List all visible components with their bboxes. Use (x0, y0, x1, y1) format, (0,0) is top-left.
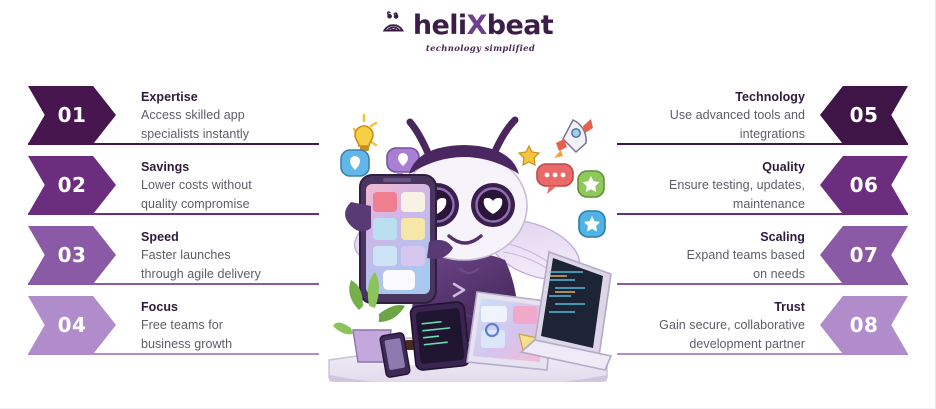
feature-title: Focus (141, 298, 320, 316)
feature-item[interactable]: 08 Trust Gain secure, collaborative deve… (616, 296, 908, 366)
feature-item[interactable]: 04 Focus Free teams for business growth (28, 296, 320, 366)
feature-item[interactable]: 05 Technology Use advanced tools and int… (616, 86, 908, 156)
feature-number-badge: 02 (28, 156, 116, 214)
helixbeat-bee-logo-icon (382, 10, 408, 41)
feature-text-block: Quality Ensure testing, updates, mainten… (616, 158, 805, 214)
feature-description: Faster launches through agile delivery (141, 246, 320, 284)
feature-divider (617, 143, 908, 145)
feature-divider (28, 283, 319, 285)
feature-number-badge: 06 (820, 156, 908, 214)
feature-text-block: Trust Gain secure, collaborative develop… (616, 298, 805, 354)
feature-description: Lower costs without quality compromise (141, 176, 320, 214)
feature-text-block: Focus Free teams for business growth (141, 298, 320, 354)
feature-text-block: Savings Lower costs without quality comp… (141, 158, 320, 214)
app-badge-icon (341, 150, 369, 176)
feature-number-badge: 08 (820, 296, 908, 354)
brand-logo-row: heliXbeat (382, 10, 553, 41)
feature-item[interactable]: 03 Speed Faster launches through agile d… (28, 226, 320, 296)
feature-text-block: Expertise Access skilled app specialists… (141, 88, 320, 144)
feature-number-badge: 07 (820, 226, 908, 284)
feature-divider (617, 353, 908, 355)
brand-logo: heliXbeat technology simplified (0, 10, 935, 54)
feature-description: Use advanced tools and integrations (616, 106, 805, 144)
feature-description: Expand teams based on needs (616, 246, 805, 284)
feature-divider (28, 213, 319, 215)
feature-title: Technology (616, 88, 805, 106)
feature-divider (617, 283, 908, 285)
feature-text-block: Technology Use advanced tools and integr… (616, 88, 805, 144)
feature-title: Trust (616, 298, 805, 316)
brand-name-part1: heli (413, 10, 467, 41)
feature-description: Gain secure, collaborative development p… (616, 316, 805, 354)
helixbeat-mascot-workspace-illustration (321, 90, 613, 382)
feature-title: Scaling (616, 228, 805, 246)
feature-item[interactable]: 07 Scaling Expand teams based on needs (616, 226, 908, 296)
smartphone (410, 301, 470, 370)
feature-description: Ensure testing, updates, maintenance (616, 176, 805, 214)
feature-text-block: Scaling Expand teams based on needs (616, 228, 805, 284)
chat-bubble-icon (537, 164, 573, 194)
rocket-icon (554, 119, 593, 158)
feature-title: Expertise (141, 88, 320, 106)
app-badge-icon (578, 171, 604, 197)
feature-item[interactable]: 01 Expertise Access skilled app speciali… (28, 86, 320, 156)
feature-description: Free teams for business growth (141, 316, 320, 354)
feature-title: Quality (616, 158, 805, 176)
star-icon (579, 211, 605, 237)
feature-text-block: Speed Faster launches through agile deli… (141, 228, 320, 284)
brand-name-part2: beat (487, 10, 553, 41)
feature-divider (28, 143, 319, 145)
lightbulb-icon (354, 115, 376, 151)
brand-wordmark: heliXbeat (413, 12, 553, 39)
feature-number-badge: 01 (28, 86, 116, 144)
feature-number-badge: 03 (28, 226, 116, 284)
infographic-canvas: heliXbeat technology simplified 01 Exper… (0, 0, 936, 409)
feature-number-badge: 05 (820, 86, 908, 144)
feature-divider (28, 353, 319, 355)
star-icon (519, 146, 539, 165)
brand-name-x: X (467, 10, 487, 41)
brand-tagline: technology simplified (426, 44, 535, 54)
feature-item[interactable]: 06 Quality Ensure testing, updates, main… (616, 156, 908, 226)
left-feature-column: 01 Expertise Access skilled app speciali… (28, 86, 320, 366)
feature-number-badge: 04 (28, 296, 116, 354)
feature-title: Savings (141, 158, 320, 176)
right-feature-column: 05 Technology Use advanced tools and int… (616, 86, 908, 366)
feature-divider (617, 213, 908, 215)
feature-description: Access skilled app specialists instantly (141, 106, 320, 144)
feature-item[interactable]: 02 Savings Lower costs without quality c… (28, 156, 320, 226)
feature-title: Speed (141, 228, 320, 246)
